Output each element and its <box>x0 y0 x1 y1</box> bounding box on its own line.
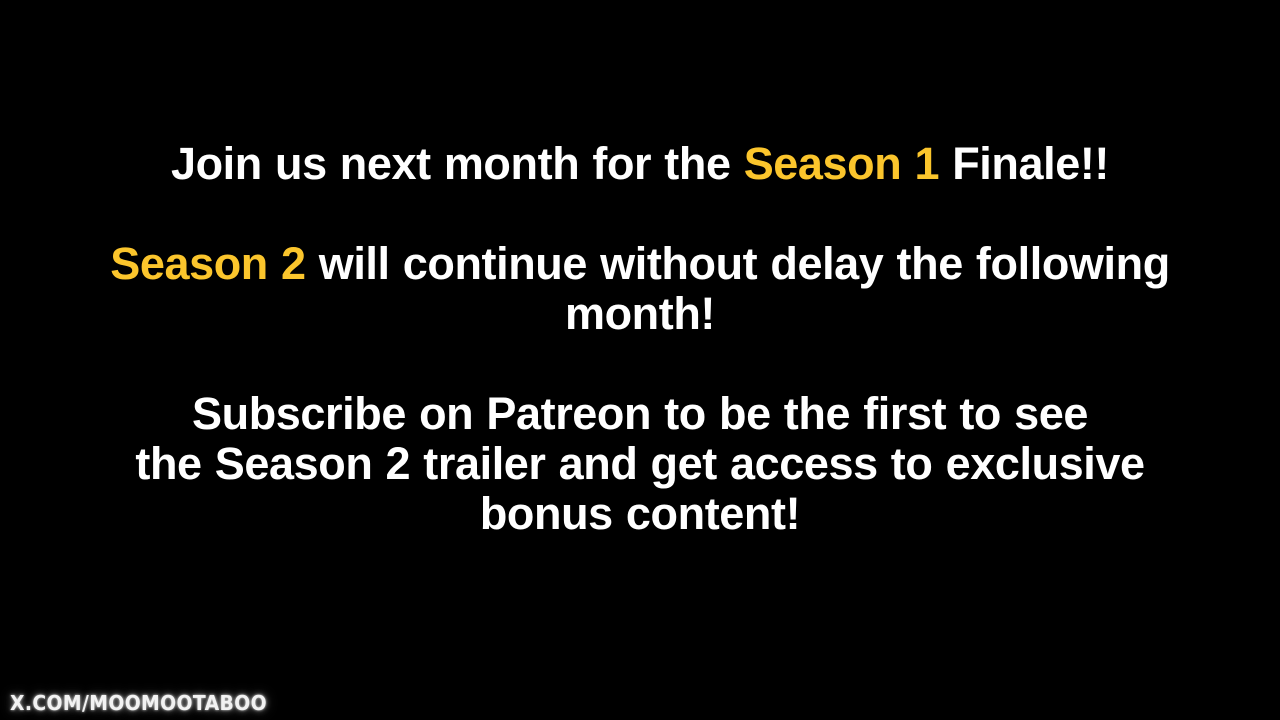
season-2-announcement-line: Season 2 will continue without delay the… <box>50 239 1230 339</box>
announcement-screen: Join us next month for the Season 1 Fina… <box>0 0 1280 720</box>
finale-announcement-line: Join us next month for the Season 1 Fina… <box>50 139 1230 189</box>
season-2-trail-text: will continue without delay the followin… <box>306 238 1170 339</box>
finale-lead-text: Join us next month for the <box>171 138 744 189</box>
finale-trail-text: Finale!! <box>939 138 1109 189</box>
watermark-handle: X.COM/MOOMOOTABOO <box>10 692 267 714</box>
patreon-call-to-action: Subscribe on Patreon to be the first to … <box>50 389 1230 539</box>
message-stack: Join us next month for the Season 1 Fina… <box>0 0 1280 660</box>
season-2-highlight: Season 2 <box>110 238 305 289</box>
season-1-highlight: Season 1 <box>744 138 939 189</box>
